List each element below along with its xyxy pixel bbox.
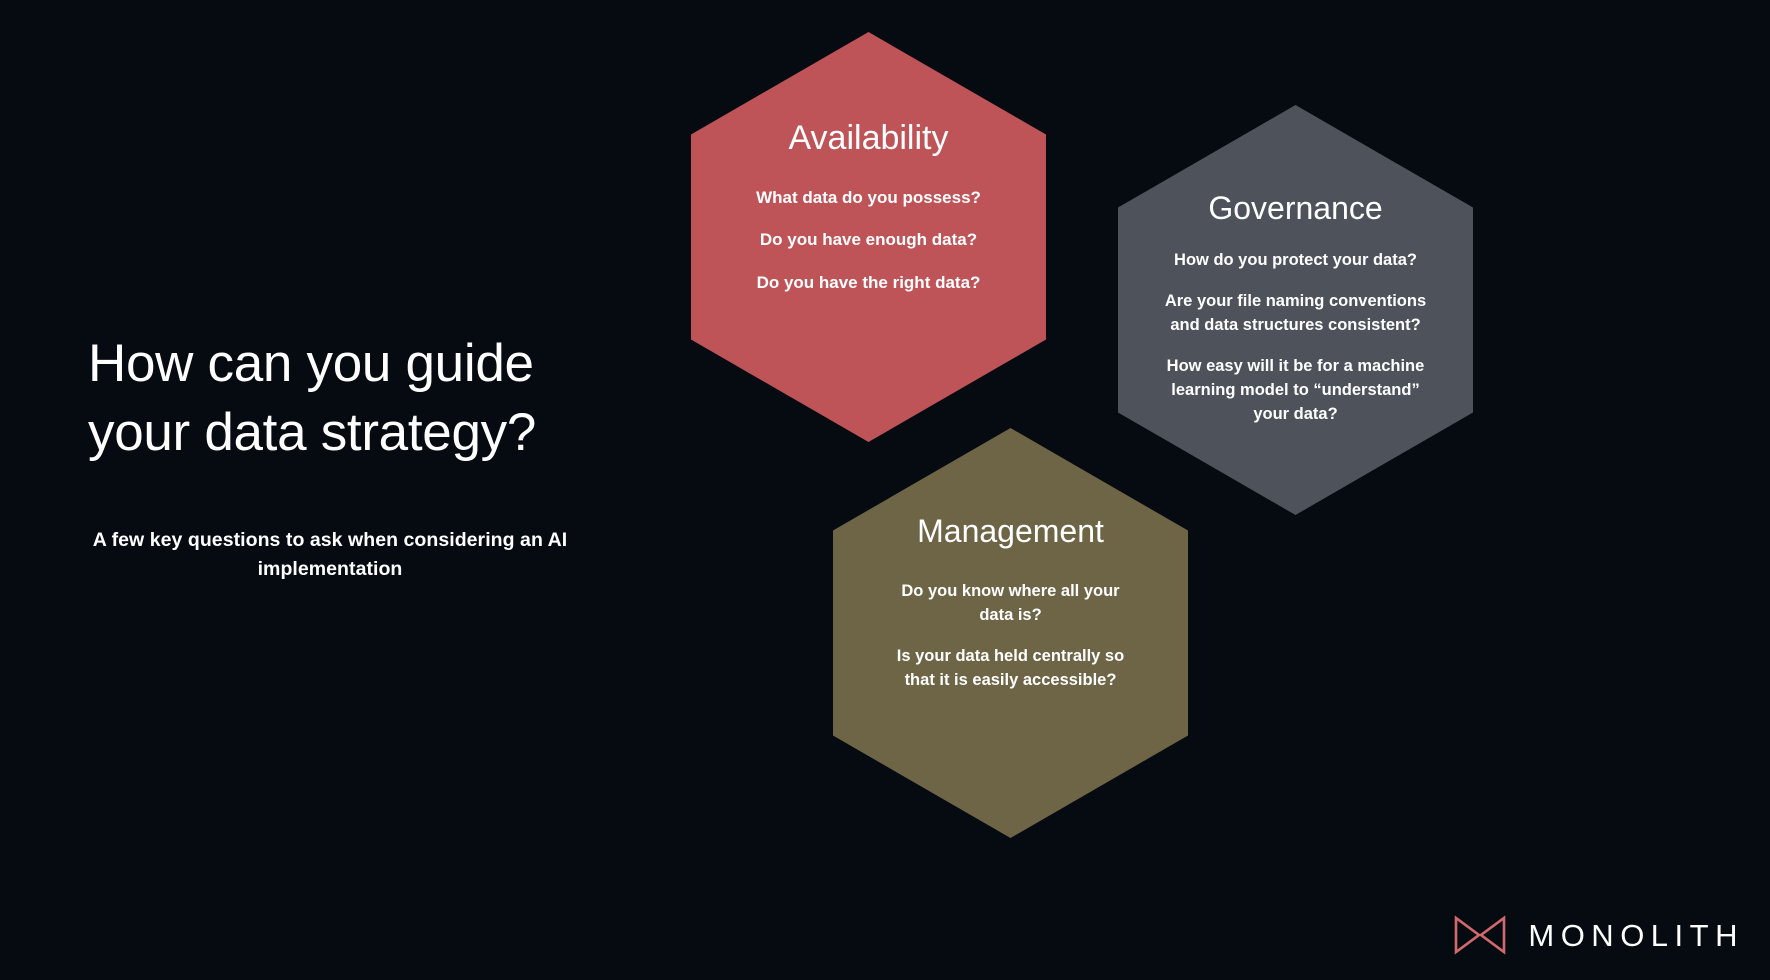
hexagon-title-availability: Availability — [788, 119, 948, 158]
question-item: Do you know where all your data is? — [890, 580, 1132, 628]
page-title: How can you guide your data strategy? — [0, 330, 620, 468]
question-item: What data do you possess? — [724, 186, 1014, 211]
hexagon-title-governance: Governance — [1208, 190, 1382, 227]
hexagon-card-availability: Availability What data do you possess? D… — [691, 32, 1046, 442]
brand-logo: MONOLITH — [1454, 915, 1744, 955]
hexagon-questions-governance: How do you protect your data? Are your f… — [1156, 249, 1436, 427]
question-item: How do you protect your data? — [1156, 249, 1436, 273]
hexagon-questions-availability: What data do you possess? Do you have en… — [724, 186, 1014, 296]
hexagon-card-governance: Governance How do you protect your data?… — [1118, 105, 1473, 515]
question-item: How easy will it be for a machine learni… — [1156, 355, 1436, 427]
question-item: Do you have enough data? — [724, 228, 1014, 253]
hexagon-card-management: Management Do you know where all your da… — [833, 428, 1188, 838]
hexagon-questions-management: Do you know where all your data is? Is y… — [890, 580, 1132, 693]
brand-wordmark: MONOLITH — [1528, 920, 1744, 951]
slide-canvas: How can you guide your data strategy? A … — [0, 0, 1770, 980]
monolith-m-mark-icon — [1454, 915, 1506, 955]
question-item: Is your data held centrally so that it i… — [890, 645, 1132, 693]
hexagon-title-management: Management — [917, 513, 1104, 550]
question-item: Are your file naming conventions and dat… — [1156, 290, 1436, 338]
question-item: Do you have the right data? — [724, 271, 1014, 296]
intro-text-block: How can you guide your data strategy? A … — [0, 330, 680, 584]
page-subtitle: A few key questions to ask when consider… — [0, 526, 590, 585]
